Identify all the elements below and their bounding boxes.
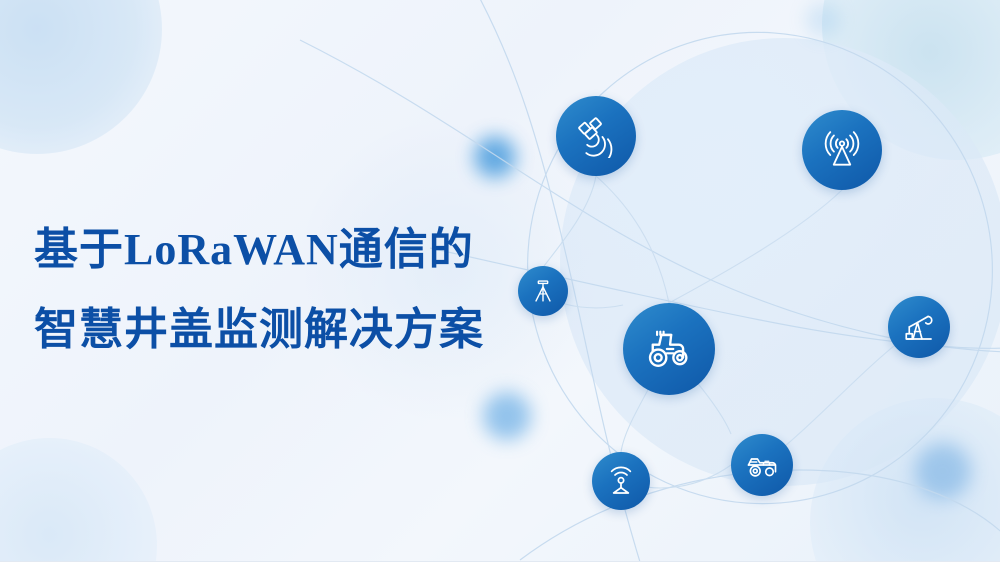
- slide-title: 基于LoRaWAN通信的 智慧井盖监测解决方案: [34, 228, 484, 352]
- accent-dot-top: [806, 3, 840, 37]
- title-line-1: 基于LoRaWAN通信的: [34, 228, 484, 272]
- title-line-2: 智慧井盖监测解决方案: [34, 308, 484, 352]
- background-sphere: [560, 38, 1000, 486]
- satellite-icon: [556, 96, 636, 176]
- accent-dot-upper: [474, 136, 516, 178]
- tractor-icon: [623, 303, 715, 395]
- oil-pumpjack-icon: [888, 296, 950, 358]
- sensor-node-icon: [592, 452, 650, 510]
- harvester-icon: [731, 434, 793, 496]
- radio-tower-icon: [802, 110, 882, 190]
- survey-tripod-icon: [518, 266, 568, 316]
- background-blob-bottom-left: [0, 438, 157, 562]
- background-blob-bottom-right: [810, 398, 1000, 562]
- presentation-slide: 基于LoRaWAN通信的 智慧井盖监测解决方案: [0, 0, 1000, 562]
- accent-dot-right: [915, 443, 971, 499]
- background-blob-top-left: [0, 0, 162, 154]
- accent-dot-lower: [483, 392, 531, 440]
